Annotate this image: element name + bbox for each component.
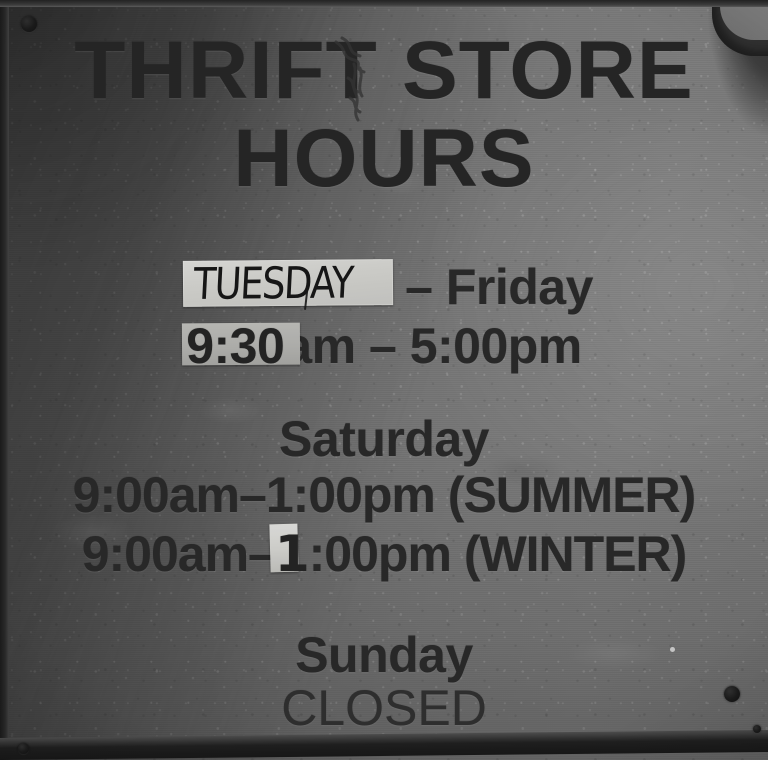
weekday-range-row: TUESDAY – Friday: [0, 252, 768, 316]
tuesday-sticker: TUESDAY: [183, 259, 393, 307]
winter-open: 9:00am: [82, 526, 248, 582]
weekday-hours-dash: –: [369, 318, 396, 374]
winter-close-hour-handwritten: 1: [275, 525, 309, 583]
screw-hole-bottom-left: [18, 743, 29, 754]
weekday-separator-friday: – Friday: [389, 258, 593, 316]
screw-hole-top-left: [21, 16, 37, 32]
summer-season: (SUMMER): [448, 467, 696, 523]
weekday-close-time: 5:00pm: [410, 318, 582, 374]
sign-text-content: THRIFT STORE HOURS TUESDAY – Friday: [0, 0, 768, 760]
summer-close: 1:00pm: [266, 467, 435, 523]
screw-hole-bottom-right: [724, 686, 740, 702]
winter-season: (WINTER): [464, 526, 687, 582]
sign-title-line-1: THRIFT STORE: [0, 24, 768, 118]
tuesday-handwritten-label: TUESDAY: [192, 257, 353, 309]
sign-title-line-2: HOURS: [0, 112, 768, 206]
saturday-label: Saturday: [0, 410, 768, 468]
summer-dash: –: [239, 467, 266, 523]
surface-highlight-speck: [670, 647, 675, 652]
thrift-store-hours-sign: THRIFT STORE HOURS TUESDAY – Friday: [0, 0, 768, 760]
screenshot-root: THRIFT STORE HOURS TUESDAY – Friday: [0, 0, 768, 760]
sign-top-edge: [0, 0, 768, 7]
weekday-open-slot: 9:30: [186, 317, 284, 375]
weekday-open-time: 9:30: [186, 318, 284, 374]
saturday-summer-hours: 9:00am–1:00pm (SUMMER): [0, 466, 768, 524]
summer-open: 9:00am: [73, 467, 239, 523]
weekday-range: TUESDAY – Friday: [175, 252, 593, 316]
weekday-hours-row: 9:30 am – 5:00pm: [0, 317, 768, 375]
screw-hole-right-lower: [753, 725, 761, 733]
saturday-winter-hours: 9:00am– 1 :00pm (WINTER): [0, 525, 768, 583]
sign-left-edge: [0, 0, 9, 760]
winter-close-rest: :00pm: [309, 526, 451, 582]
sunday-status: CLOSED: [0, 679, 768, 737]
winter-close-hour-slot: 1: [275, 525, 309, 583]
weekday-start-slot: TUESDAY: [175, 252, 389, 304]
sunday-label: Sunday: [0, 626, 768, 684]
